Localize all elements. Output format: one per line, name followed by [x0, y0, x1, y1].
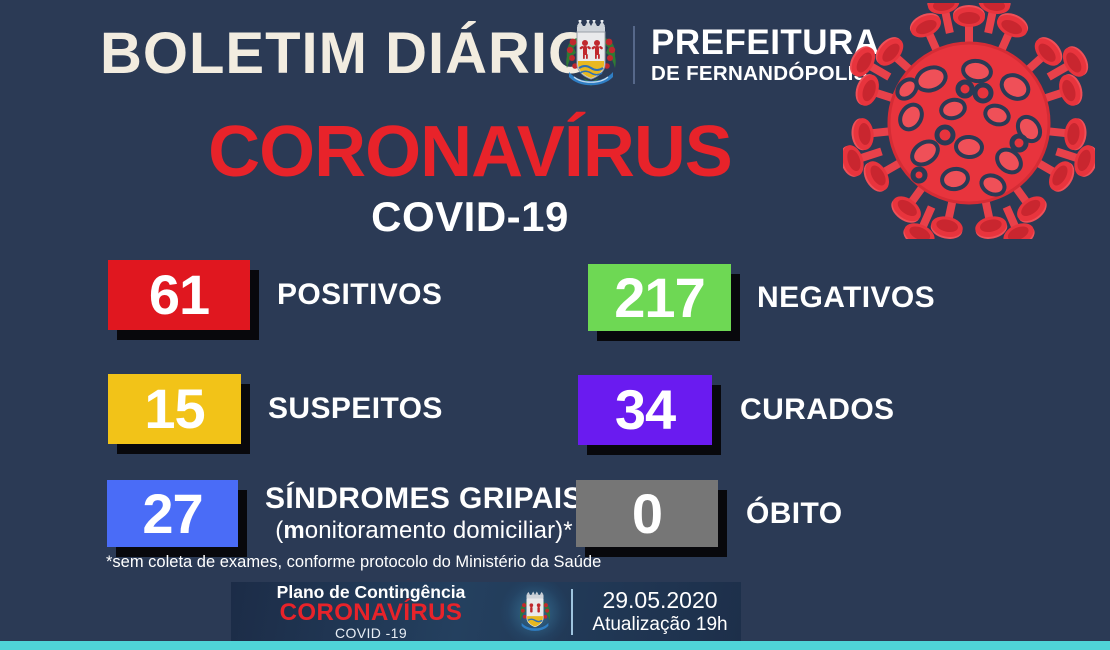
prefeitura-brand: PREFEITURA DE FERNANDÓPOLIS	[563, 18, 880, 92]
stat-value: 61	[149, 267, 209, 323]
stat-value: 0	[632, 486, 662, 542]
stat-label-main: CURADOS	[740, 393, 894, 426]
coat-of-arms-small-icon	[518, 591, 552, 634]
footer-divider	[571, 589, 573, 635]
footer-corona-text: CORONAVÍRUS	[235, 601, 507, 626]
footer-update: Atualização 19h	[585, 614, 735, 635]
stat-label: SUSPEITOS	[268, 392, 443, 426]
covid-daily-bulletin-poster: BOLETIM DIÁRIO	[0, 0, 1110, 650]
stat-value: 34	[615, 382, 675, 438]
hero-subtitle: COVID-19	[0, 196, 940, 238]
stat-label: SÍNDROMES GRIPAIS(monitoramento domicili…	[265, 482, 583, 545]
footer-plan-block: Plano de Contingência CORONAVÍRUS COVID …	[231, 583, 507, 641]
stat-row: 27SÍNDROMES GRIPAIS(monitoramento domici…	[107, 480, 583, 547]
footnote: *sem coleta de exames, conforme protocol…	[106, 553, 601, 572]
stat-value-box: 27	[107, 480, 238, 547]
stat-label: ÓBITO	[746, 497, 842, 531]
brand-divider	[633, 26, 635, 84]
stat-value-box: 0	[576, 480, 718, 547]
coat-of-arms-icon	[563, 20, 619, 90]
stat-label-main: ÓBITO	[746, 497, 842, 530]
footer-covid-text: COVID -19	[235, 626, 507, 641]
stat-value: 217	[614, 270, 704, 326]
stat-label-main: NEGATIVOS	[757, 281, 935, 314]
page-title: BOLETIM DIÁRIO	[100, 25, 594, 83]
stat-label: NEGATIVOS	[757, 281, 935, 315]
stat-label-main: SÍNDROMES GRIPAIS	[265, 482, 583, 515]
stat-label: POSITIVOS	[277, 278, 442, 312]
stat-label-main: POSITIVOS	[277, 278, 442, 311]
stat-label-sub: (monitoramento domiciliar)*	[265, 518, 583, 545]
stat-value: 27	[142, 486, 202, 542]
footer-date: 29.05.2020	[585, 588, 735, 614]
footer-bar: Plano de Contingência CORONAVÍRUS COVID …	[231, 582, 741, 642]
stat-label-main: SUSPEITOS	[268, 392, 443, 425]
stat-value: 15	[144, 381, 204, 437]
hero-title: CORONAVÍRUS	[0, 116, 940, 188]
stat-value-box: 34	[578, 375, 712, 445]
stat-value-box: 217	[588, 264, 731, 331]
bottom-accent-strip	[0, 641, 1110, 650]
footer-emblem-wrap	[507, 591, 563, 634]
stat-label: CURADOS	[740, 393, 894, 427]
stat-row: 0ÓBITO	[576, 480, 842, 547]
stat-value-box: 15	[108, 374, 241, 444]
footer-date-block: 29.05.2020 Atualização 19h	[585, 588, 741, 635]
stat-row: 217NEGATIVOS	[588, 264, 935, 331]
stat-row: 34CURADOS	[578, 375, 894, 445]
stat-row: 61POSITIVOS	[108, 260, 442, 330]
stat-row: 15SUSPEITOS	[108, 374, 443, 444]
stat-value-box: 61	[108, 260, 250, 330]
